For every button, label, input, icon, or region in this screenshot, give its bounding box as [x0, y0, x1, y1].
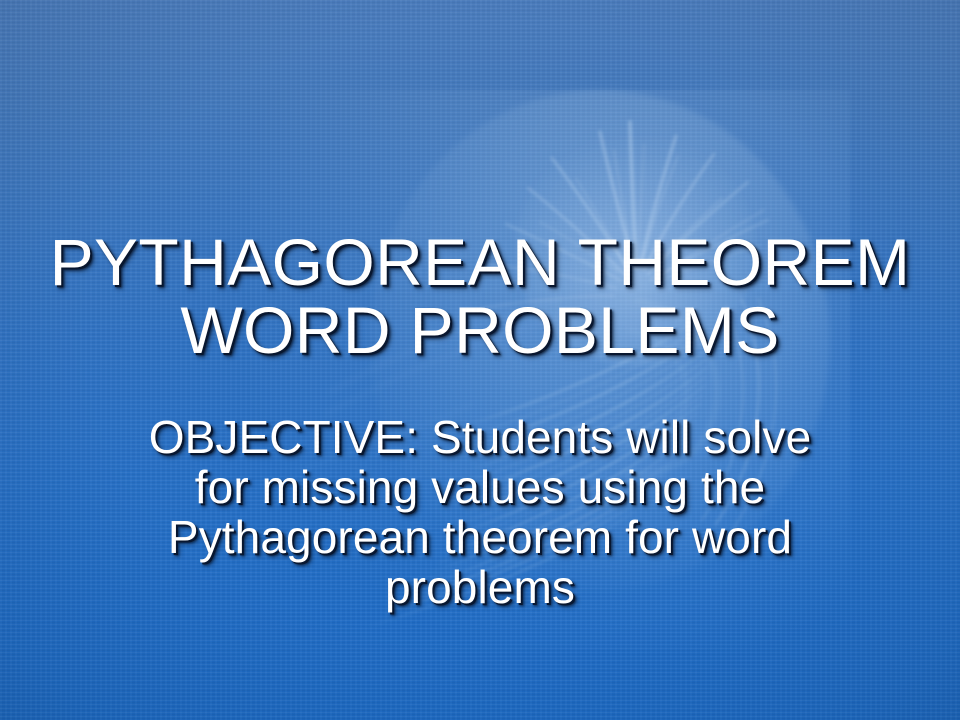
slide-text-layer: PYTHAGOREAN THEOREM WORD PROBLEMS OBJECT… — [0, 0, 960, 720]
title-line-2: WORD PROBLEMS — [0, 296, 960, 364]
seashell-watermark — [0, 0, 960, 720]
title-slide: PYTHAGOREAN THEOREM WORD PROBLEMS OBJECT… — [0, 0, 960, 720]
seashell-glow — [250, 90, 850, 650]
subtitle-line-2: for missing values using the — [0, 462, 960, 512]
background-scanline-texture — [0, 0, 960, 720]
background-weave-texture — [0, 0, 960, 720]
title-line-1: PYTHAGOREAN THEOREM — [0, 228, 960, 296]
objective-subtitle: OBJECTIVE: Students will solve for missi… — [0, 412, 960, 612]
edge-vignette — [0, 0, 960, 720]
subtitle-line-1: OBJECTIVE: Students will solve — [0, 412, 960, 462]
subtitle-line-3: Pythagorean theorem for word — [0, 512, 960, 562]
subtitle-line-4: problems — [0, 562, 960, 612]
page-title: PYTHAGOREAN THEOREM WORD PROBLEMS — [0, 228, 960, 364]
